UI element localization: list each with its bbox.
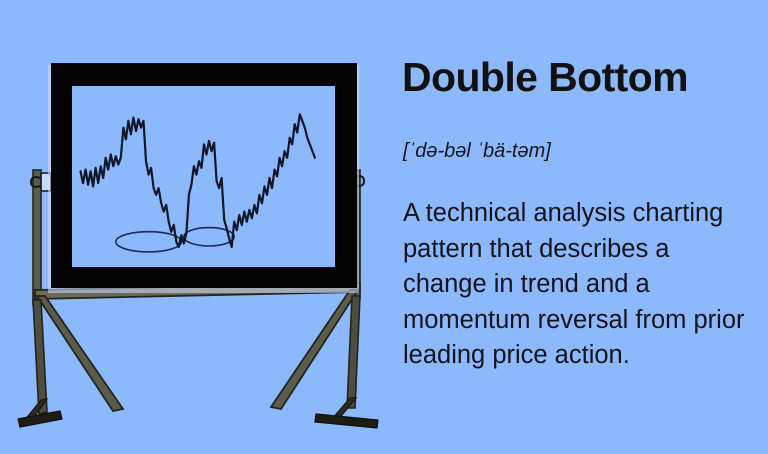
easel-drop-right xyxy=(347,296,360,408)
pronunciation-text: [ˈdə-bəl ˈbä-təm] xyxy=(403,138,551,164)
definition-text: A technical analysis charting pattern th… xyxy=(403,196,753,374)
easel-drop-left xyxy=(33,300,47,414)
illustration-whiteboard-easel xyxy=(0,0,395,454)
easel-post-left xyxy=(33,170,41,305)
board-surface xyxy=(72,86,335,267)
definition-panel: Double Bottom [ˈdə-bəl ˈbä-təm] A techni… xyxy=(398,0,760,454)
infographic-canvas: Double Bottom [ˈdə-bəl ˈbä-təm] A techni… xyxy=(0,0,768,454)
easel-leg-left xyxy=(37,296,123,411)
whiteboard[interactable] xyxy=(48,63,359,293)
easel-foot-right xyxy=(315,414,378,428)
easel-leg-right xyxy=(271,290,358,409)
page-title: Double Bottom xyxy=(402,54,688,100)
